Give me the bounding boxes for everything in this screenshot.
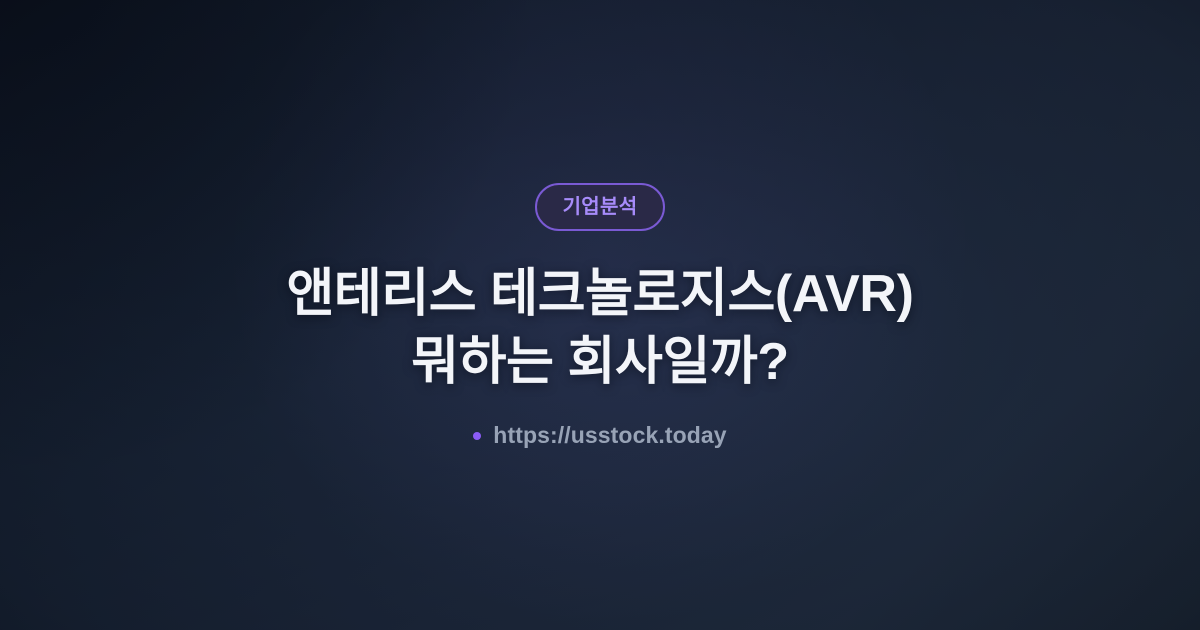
- og-card: 기업분석 앤테리스 테크놀로지스(AVR) 뭐하는 회사일까? https://…: [0, 0, 1200, 630]
- page-title-line-1: 앤테리스 테크놀로지스(AVR): [286, 261, 913, 329]
- category-badge-label: 기업분석: [563, 197, 638, 217]
- bullet-dot-icon: [473, 432, 481, 440]
- page-title-line-2: 뭐하는 회사일까?: [286, 329, 913, 397]
- site-url[interactable]: https://usstock.today: [473, 424, 726, 447]
- category-badge[interactable]: 기업분석: [535, 183, 666, 231]
- page-title: 앤테리스 테크놀로지스(AVR) 뭐하는 회사일까?: [286, 261, 913, 396]
- card-content: 기업분석 앤테리스 테크놀로지스(AVR) 뭐하는 회사일까? https://…: [0, 183, 1200, 447]
- site-url-label: https://usstock.today: [493, 424, 726, 447]
